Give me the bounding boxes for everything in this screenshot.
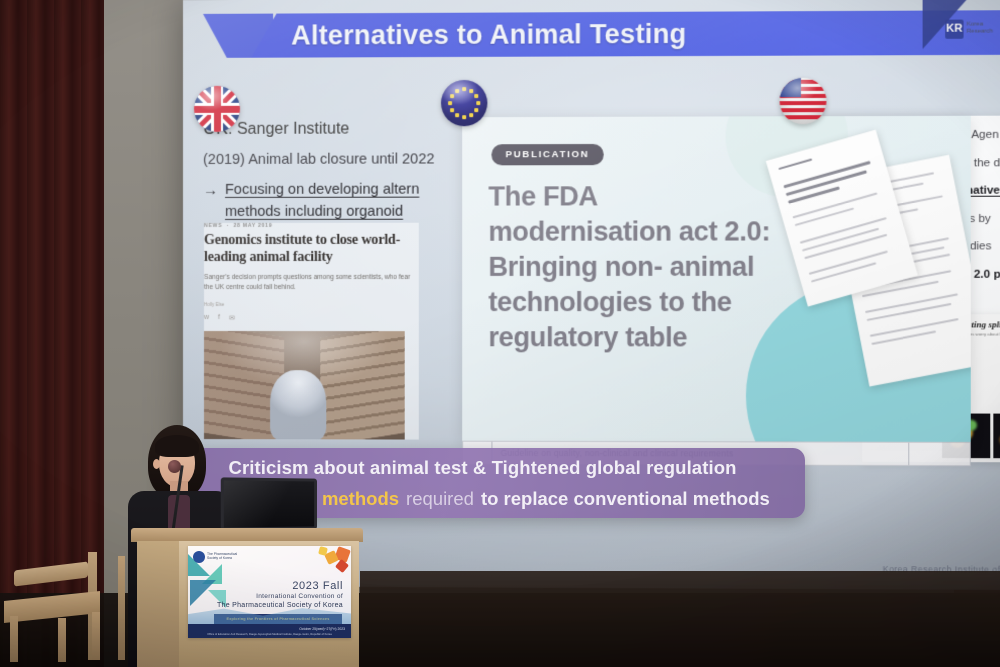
stage-floor-right <box>360 571 1000 667</box>
podium: The Pharmaceutical Society of Korea 2023… <box>131 528 363 667</box>
publication-tag: PUBLICATION <box>491 144 603 165</box>
arrow-right-icon: → <box>203 179 218 224</box>
news-social-row: w f ✉ <box>204 314 419 322</box>
society-logo-text: The Pharmaceutical Society of Korea <box>207 552 237 561</box>
uk-section: UK: Sanger Institute (2019) Animal lab c… <box>203 117 448 224</box>
facebook-icon: f <box>218 314 220 322</box>
uk-bullet: → Focusing on developing altern methods … <box>203 179 448 224</box>
logo-org-line1: Korea Research <box>967 21 1000 36</box>
logo-org-text: Korea Research <box>967 21 1000 36</box>
microphone-head-icon <box>168 460 181 473</box>
sign-year: 2023 Fall <box>292 580 343 592</box>
eu-flag-icon <box>441 80 487 126</box>
society-logo-icon <box>193 551 205 563</box>
publication-card: PUBLICATION The FDA modernisation act 2.… <box>462 116 971 442</box>
paper-snippet-front <box>766 130 918 307</box>
sign-leaves-decor <box>303 546 351 580</box>
pub-title-line1: The FDA modernisation <box>488 181 671 247</box>
news-photo <box>204 331 405 440</box>
sign-footer-bar: October 25(wed)~27(Fri) 2023 Office of E… <box>188 624 351 638</box>
chair-back <box>14 561 88 586</box>
uk-closure-line: (2019) Animal lab closure until 2022 <box>203 151 448 168</box>
confidence-monitor <box>221 477 317 530</box>
summary-rest: to replace conventional methods <box>481 488 770 510</box>
publication-title: The FDA modernisation act 2.0: Bringing … <box>488 179 782 356</box>
presenter-ear <box>153 459 160 469</box>
presenter-fringe <box>155 435 199 457</box>
podium-top <box>131 528 363 542</box>
uk-bullet-line2: methods including organoid <box>225 204 403 220</box>
title-bar: Alternatives to Animal Testing <box>251 10 1000 58</box>
society-logo-line2: Society of Korea <box>207 556 237 560</box>
uk-news-card: NEWS · 28 MAY 2019 Genomics institute to… <box>204 223 419 440</box>
sign-line1: International Convention of <box>256 593 343 600</box>
chair-seat <box>4 591 100 623</box>
uk-bullet-text: Focusing on developing altern methods in… <box>225 179 419 224</box>
sign-line2: The Pharmaceutical Society of Korea <box>217 602 343 609</box>
news-standfirst: Sanger's decision prompts questions amon… <box>204 273 419 293</box>
news-headline-line1: Genomics institute to close world- <box>204 233 400 248</box>
sign-date: October 25(wed)~27(Fri) 2023 <box>299 627 345 631</box>
microscopy-thumb-2 <box>993 414 1000 459</box>
news-byline: Holly Else <box>204 302 419 307</box>
news-headline: Genomics institute to close world- leadi… <box>204 233 419 266</box>
stage-chair <box>0 560 128 667</box>
uk-institute-label: : Sanger Institute <box>228 121 349 138</box>
summary-line-1: Criticism about animal test & Tightened … <box>229 457 737 479</box>
uk-flag-icon <box>194 86 240 132</box>
twitter-icon: w <box>204 314 209 322</box>
summary-required: required <box>406 488 474 510</box>
us-flag-icon <box>780 78 827 125</box>
kribb-corner-logo: KR Korea Research <box>945 8 1000 49</box>
presentation-scene: Alternatives to Animal Testing KR Korea … <box>0 0 1000 667</box>
slide-title: Alternatives to Animal Testing <box>291 18 686 51</box>
email-icon: ✉ <box>229 314 235 322</box>
podium-sign: The Pharmaceutical Society of Korea 2023… <box>188 546 351 638</box>
logo-mark: KR <box>945 19 963 38</box>
podium-side-panel <box>137 541 179 667</box>
news-headline-line2: leading animal facility <box>204 249 333 264</box>
slide-title-banner: Alternatives to Animal Testing <box>203 10 1000 58</box>
sign-venue: Office of Education And Research, Daegu-… <box>188 633 351 636</box>
uk-bullet-line1: Focusing on developing altern <box>225 182 419 198</box>
